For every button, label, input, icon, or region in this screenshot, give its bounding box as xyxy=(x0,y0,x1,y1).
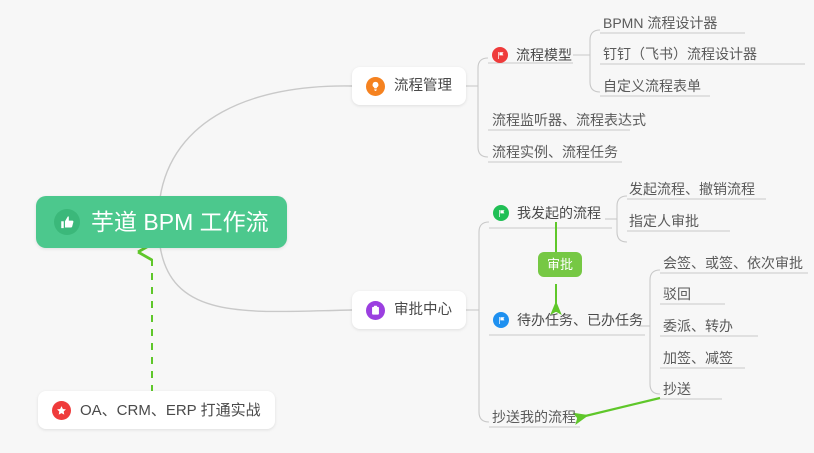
leaf-countersign-label: 会签、或签、依次审批 xyxy=(663,256,803,270)
flag-icon-blue xyxy=(493,312,509,328)
leaf-bpmn-designer-label: BPMN 流程设计器 xyxy=(603,16,717,30)
leaf-start-cancel-process[interactable]: 发起流程、撤销流程 xyxy=(629,182,755,196)
root-node-label: 芋道 BPM 工作流 xyxy=(91,211,269,234)
lightbulb-icon xyxy=(366,77,385,96)
leaf-reject-label: 驳回 xyxy=(663,287,691,301)
node-process-model-label: 流程模型 xyxy=(516,48,572,62)
leaf-bpmn-designer[interactable]: BPMN 流程设计器 xyxy=(603,16,717,30)
node-todo-done-tasks-label: 待办任务、已办任务 xyxy=(517,313,643,327)
annotation-approval-tag: 审批 xyxy=(538,252,582,277)
leaf-custom-form-label: 自定义流程表单 xyxy=(603,79,701,93)
leaf-process-instance[interactable]: 流程实例、流程任务 xyxy=(492,145,618,159)
thumbs-up-icon xyxy=(54,209,80,235)
node-my-initiated[interactable]: 我发起的流程 xyxy=(493,205,601,221)
leaf-cc-label: 抄送 xyxy=(663,382,691,396)
star-icon xyxy=(52,401,71,420)
annotation-approval-tag-label: 审批 xyxy=(547,257,573,272)
branch-approval-center-label: 审批中心 xyxy=(394,303,452,318)
footnote-node[interactable]: OA、CRM、ERP 打通实战 xyxy=(38,391,275,429)
leaf-add-remove-sign[interactable]: 加签、减签 xyxy=(663,351,733,365)
node-process-model[interactable]: 流程模型 xyxy=(492,47,572,63)
leaf-assignee-approval[interactable]: 指定人审批 xyxy=(629,214,699,228)
leaf-process-instance-label: 流程实例、流程任务 xyxy=(492,145,618,159)
leaf-countersign[interactable]: 会签、或签、依次审批 xyxy=(663,256,803,270)
node-todo-done-tasks[interactable]: 待办任务、已办任务 xyxy=(493,312,643,328)
footnote-node-label: OA、CRM、ERP 打通实战 xyxy=(80,403,261,418)
leaf-dingtalk-designer[interactable]: 钉钉（飞书）流程设计器 xyxy=(603,47,757,61)
leaf-start-cancel-process-label: 发起流程、撤销流程 xyxy=(629,182,755,196)
leaf-add-remove-sign-label: 加签、减签 xyxy=(663,351,733,365)
leaf-dingtalk-designer-label: 钉钉（飞书）流程设计器 xyxy=(603,47,757,61)
branch-process-management[interactable]: 流程管理 xyxy=(352,67,466,105)
mindmap-canvas: 芋道 BPM 工作流 OA、CRM、ERP 打通实战 流程管理 xyxy=(0,0,814,453)
leaf-assignee-approval-label: 指定人审批 xyxy=(629,214,699,228)
root-node[interactable]: 芋道 BPM 工作流 xyxy=(36,196,287,248)
leaf-delegate-transfer-label: 委派、转办 xyxy=(663,319,733,333)
clipboard-icon xyxy=(366,301,385,320)
leaf-custom-form[interactable]: 自定义流程表单 xyxy=(603,79,701,93)
leaf-cc-to-me-label: 抄送我的流程 xyxy=(492,410,576,424)
leaf-process-listener[interactable]: 流程监听器、流程表达式 xyxy=(492,113,646,127)
branch-approval-center[interactable]: 审批中心 xyxy=(352,291,466,329)
node-my-initiated-label: 我发起的流程 xyxy=(517,206,601,220)
leaf-reject[interactable]: 驳回 xyxy=(663,287,691,301)
leaf-process-listener-label: 流程监听器、流程表达式 xyxy=(492,113,646,127)
flag-icon-red xyxy=(492,47,508,63)
leaf-cc-to-me[interactable]: 抄送我的流程 xyxy=(492,410,576,424)
flag-icon-green xyxy=(493,205,509,221)
leaf-delegate-transfer[interactable]: 委派、转办 xyxy=(663,319,733,333)
branch-process-management-label: 流程管理 xyxy=(394,79,452,94)
leaf-cc[interactable]: 抄送 xyxy=(663,382,691,396)
